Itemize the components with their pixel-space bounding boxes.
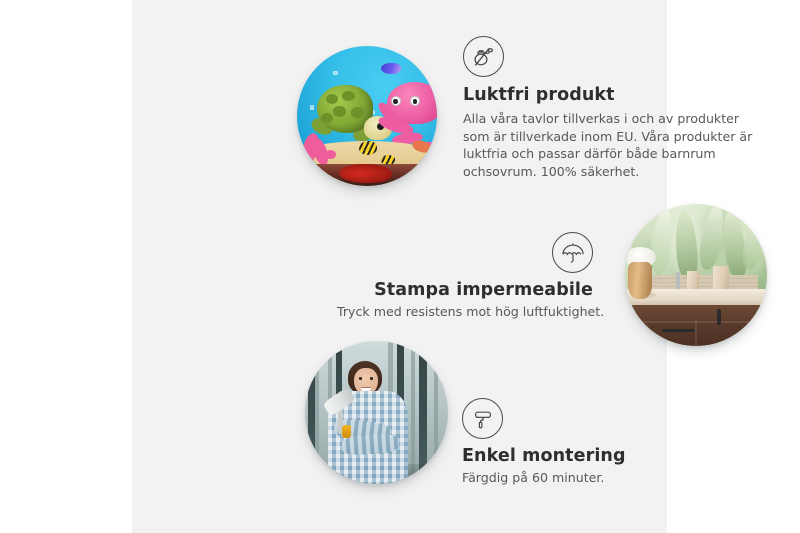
vanity-seam	[628, 321, 767, 323]
octopus-pupil	[413, 99, 417, 103]
feature-title: Stampa impermeabile	[337, 280, 593, 300]
feature-waterproof-print: Stampa impermeabile Tryck med resistens …	[337, 232, 593, 321]
cabinet-handle	[717, 309, 722, 325]
vanity-seam	[695, 321, 697, 346]
flower-vase	[628, 262, 652, 299]
bubble	[310, 105, 315, 110]
feature-description: Alla våra tavlor tillverkas i och av pro…	[463, 110, 763, 180]
feature-description: Färgdig på 60 minuter.	[462, 469, 722, 487]
turtle-shell-spot	[333, 106, 345, 116]
bubble	[333, 71, 337, 75]
feature-title: Enkel montering	[462, 446, 722, 466]
tree	[411, 341, 415, 484]
umbrella-icon	[552, 232, 593, 273]
blue-fish	[381, 63, 401, 74]
tree	[434, 341, 439, 484]
cabinet-handle	[760, 309, 765, 326]
paint-roller-grip	[342, 425, 351, 438]
no-smell-perfume-bottle-icon	[463, 36, 504, 77]
red-fish	[339, 164, 392, 184]
feature-easy-mounting: Enkel montering Färgdig på 60 minuter.	[462, 398, 722, 487]
woman-eye	[359, 377, 362, 379]
bathroom-botanical-wallpaper-circle	[625, 204, 767, 346]
content-panel: Luktfri produkt Alla våra tavlor tillver…	[132, 0, 667, 533]
turtle-shell-spot	[326, 94, 338, 104]
woman-eye	[370, 377, 373, 379]
paint-roller-icon	[462, 398, 503, 439]
tree	[308, 341, 315, 484]
feature-odor-free: Luktfri produkt Alla våra tavlor tillver…	[463, 36, 763, 180]
underwater-kids-scene-circle	[297, 46, 437, 186]
octopus-pupil	[393, 99, 397, 103]
faucet	[676, 272, 680, 290]
woman-with-paint-roller-circle	[305, 341, 448, 484]
tree	[419, 341, 427, 484]
turtle-shell-spot	[321, 113, 333, 123]
turtle-shell-spot	[351, 107, 363, 117]
wooden-vanity	[628, 305, 767, 346]
yellow-striped-fish	[359, 141, 377, 155]
wallpaper-leaf	[696, 204, 727, 272]
drawer-handle	[662, 329, 696, 332]
turtle-shell-spot	[342, 91, 354, 101]
feature-description: Tryck med resistens mot hög luftfuktighe…	[337, 303, 593, 321]
feature-title: Luktfri produkt	[463, 85, 763, 105]
product-feature-infographic: Luktfri produkt Alla våra tavlor tillver…	[0, 0, 800, 533]
wallpaper-leaf	[650, 206, 675, 276]
